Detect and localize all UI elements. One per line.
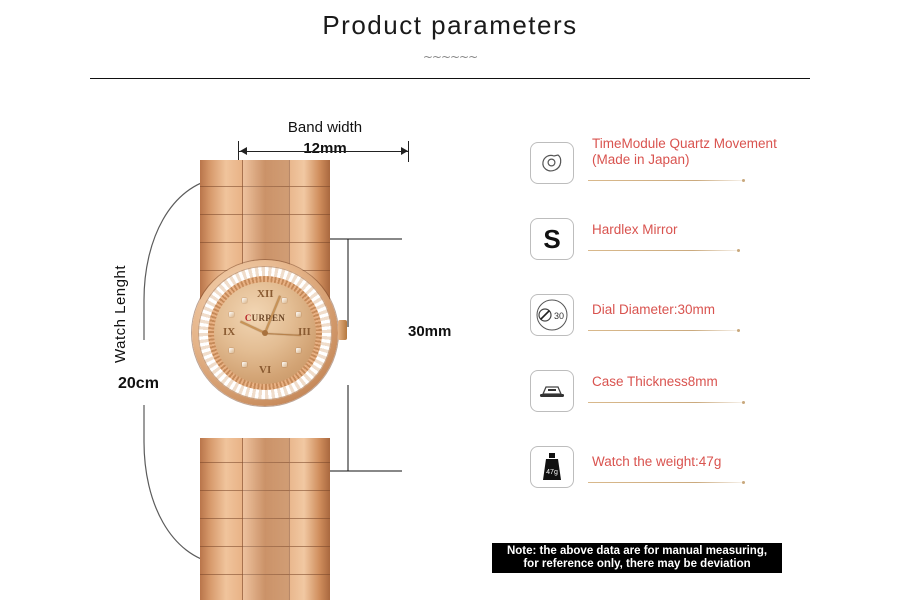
disclaimer-line1: Note: the above data are for manual meas… <box>507 545 767 558</box>
second-hand <box>265 333 301 336</box>
spec-row-mirror[interactable]: S Hardlex Mirror <box>530 216 860 292</box>
dial-numeral-6: VI <box>259 364 271 376</box>
watch-band-bottom <box>200 438 330 600</box>
spec-underline-dial-diameter <box>588 330 738 331</box>
spec-underline-weight <box>588 482 743 483</box>
watch-length-label: Watch Lenght <box>112 265 129 363</box>
spec-row-case-thickness[interactable]: Case Thickness8mm <box>530 368 860 444</box>
dial-numeral-9: IX <box>223 326 235 338</box>
watch-image: CURREN XII III VI IX <box>200 160 330 600</box>
band-width-arrow-left-icon <box>240 147 247 155</box>
watch-weight-icon: 47g <box>530 446 574 488</box>
quartz-movement-icon <box>530 142 574 184</box>
hardlex-s-icon: S <box>530 218 574 260</box>
watch-diagram: Band width 12mm Watch Lenght 20cm 30mm <box>90 100 490 570</box>
spec-label-weight: Watch the weight:47g <box>592 454 854 470</box>
spec-label-dial-diameter: Dial Diameter:30mm <box>592 302 854 318</box>
band-width-arrow-right-icon <box>401 147 408 155</box>
spec-label-movement-line1: TimeModule Quartz Movement <box>592 136 854 152</box>
band-width-label: Band width <box>250 119 400 136</box>
spec-row-dial-diameter[interactable]: 30 Dial Diameter:30mm <box>530 292 860 368</box>
spec-label-movement-line2: (Made in Japan) <box>592 152 854 168</box>
svg-text:47g: 47g <box>546 469 558 476</box>
case-thickness-icon <box>530 370 574 412</box>
band-width-value: 12mm <box>250 140 400 157</box>
title-decoration: ~~~~~~ <box>0 50 900 64</box>
header-divider <box>90 78 810 79</box>
page-title: Product parameters <box>0 10 900 41</box>
dial-center-pin <box>262 330 268 336</box>
watch-crown <box>338 320 347 340</box>
svg-text:30: 30 <box>554 311 564 321</box>
band-width-dimension-line <box>238 151 408 152</box>
spec-row-movement[interactable]: TimeModule Quartz Movement (Made in Japa… <box>530 140 860 216</box>
spec-label-mirror: Hardlex Mirror <box>592 222 854 238</box>
spec-list: TimeModule Quartz Movement (Made in Japa… <box>530 140 860 520</box>
watch-case: CURREN XII III VI IX <box>192 260 338 406</box>
spec-label-case-thickness: Case Thickness8mm <box>592 374 854 390</box>
dial-diameter-icon: 30 <box>530 294 574 336</box>
disclaimer-line2: for reference only, there may be deviati… <box>523 558 750 571</box>
watch-length-value: 20cm <box>118 375 159 393</box>
product-parameters-page: Product parameters ~~~~~~ Band width 12m… <box>0 0 900 614</box>
spec-row-weight[interactable]: 47g Watch the weight:47g <box>530 444 860 520</box>
spec-label-movement: TimeModule Quartz Movement (Made in Japa… <box>592 136 854 168</box>
dial-numeral-3: III <box>298 326 311 338</box>
spec-underline-case-thickness <box>588 402 743 403</box>
spec-underline-movement <box>588 180 743 181</box>
band-width-tick-right <box>408 141 409 162</box>
dial-width-value: 30mm <box>408 323 451 340</box>
dial-numeral-12: XII <box>257 288 274 300</box>
spec-underline-mirror <box>588 250 738 251</box>
disclaimer-note: Note: the above data are for manual meas… <box>492 543 782 573</box>
watch-dial: CURREN XII III VI IX <box>214 282 316 384</box>
